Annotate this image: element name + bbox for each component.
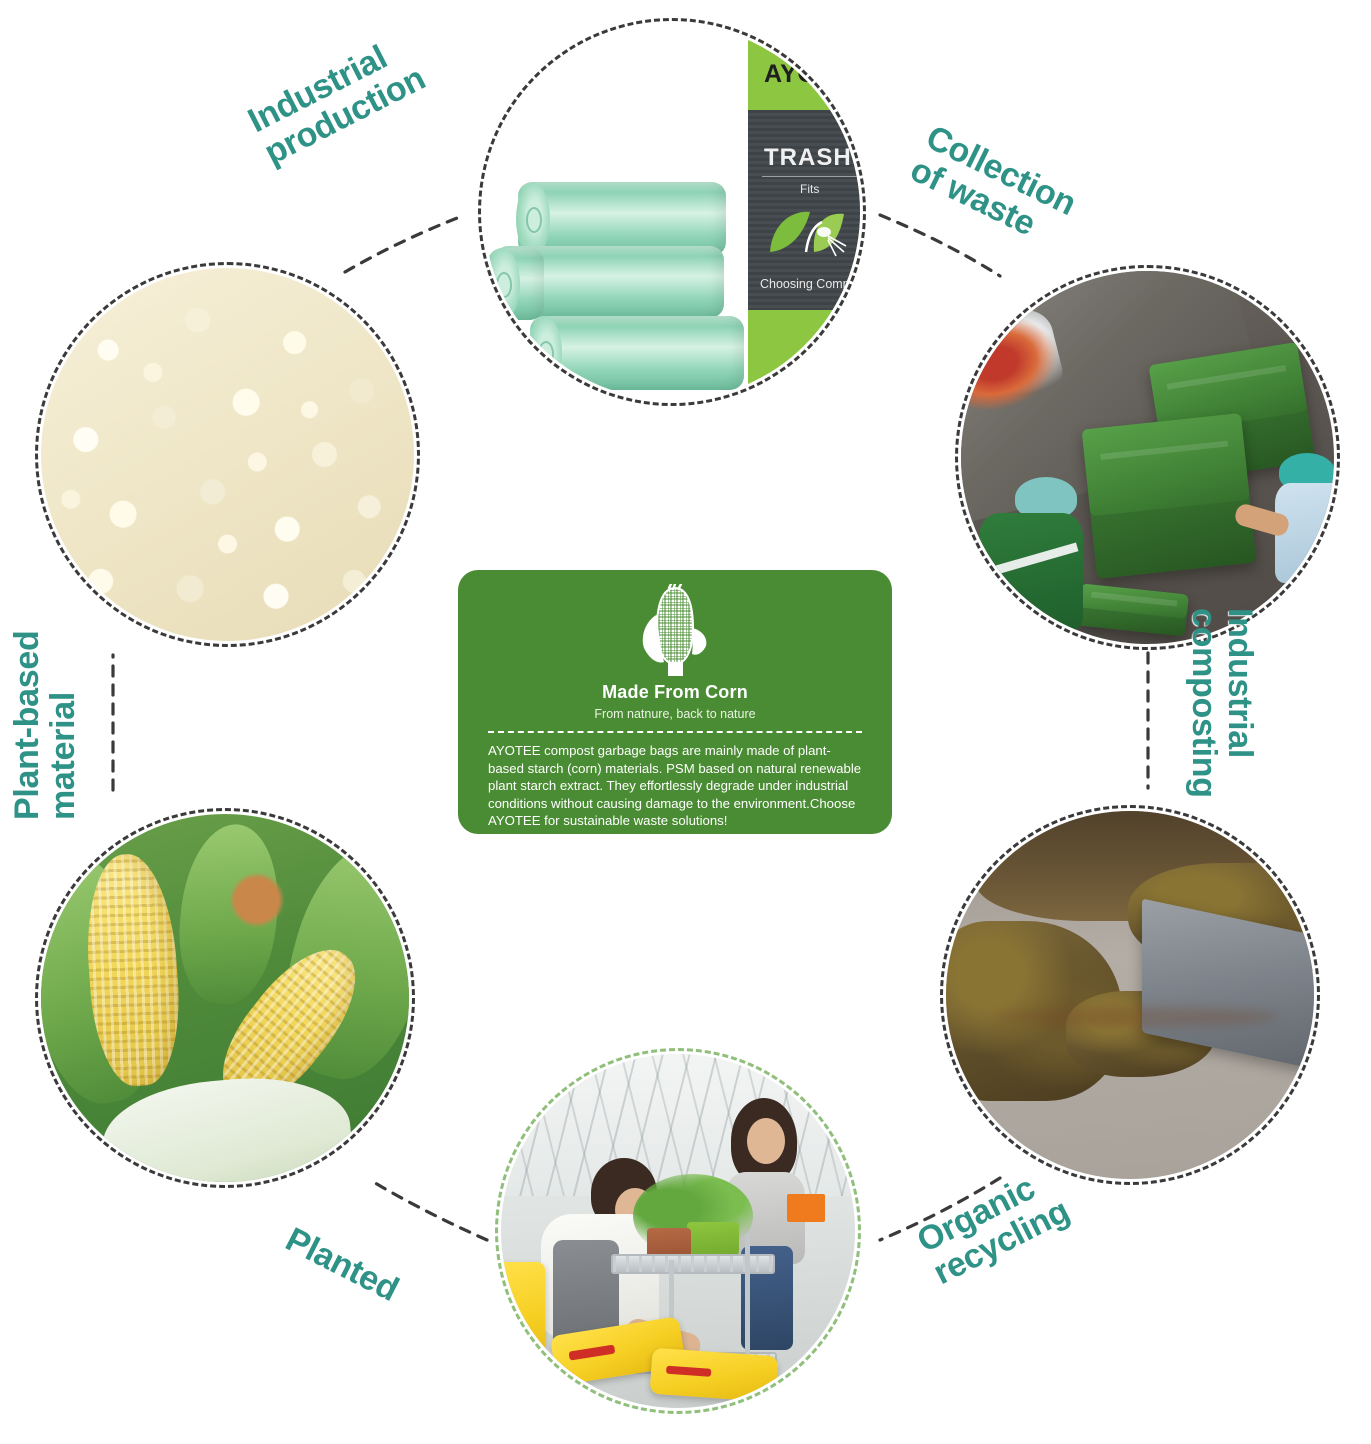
soil-bag-stack <box>501 1262 545 1368</box>
box-tagline-text: Choosing Compostab <box>760 277 860 291</box>
card-divider <box>488 731 862 733</box>
node-plant-based-material <box>35 262 420 647</box>
worker-left <box>979 477 1075 627</box>
bag-roll-lower-left <box>488 248 544 320</box>
box-brand-text: AYO <box>764 60 817 89</box>
orange-hanging-sign <box>787 1194 825 1222</box>
label-organic-recycling: Organic recycling <box>912 1161 1075 1291</box>
green-bin-lid-ground <box>1077 583 1189 636</box>
green-bin-front <box>1082 413 1257 579</box>
infographic-canvas: AYO TRASH Fits Choosing Compostab <box>0 0 1371 1444</box>
composting-photo <box>946 811 1314 1179</box>
product-box: AYO TRASH Fits Choosing Compostab <box>748 24 860 400</box>
label-planted: Planted <box>280 1222 404 1309</box>
trash-bags-photo: AYO TRASH Fits Choosing Compostab <box>484 24 860 400</box>
garden-center-photo <box>501 1054 855 1408</box>
corn-photo <box>41 814 409 1182</box>
node-planted <box>495 1048 861 1414</box>
leaf-logo-icon <box>762 202 854 266</box>
node-organic-recycling <box>35 808 415 1188</box>
label-collection-of-waste: Collection of waste <box>905 120 1081 255</box>
connector-garden-to-corn <box>370 1180 487 1240</box>
label-industrial-production: Industrial production <box>243 29 431 172</box>
corn-icon-wrap <box>488 584 862 680</box>
label-industrial-composting: Industrial composting <box>1186 608 1257 798</box>
bag-roll-top <box>518 182 726 256</box>
label-plant-based-material: Plant-based material <box>10 631 81 820</box>
waste-collection-photo <box>961 271 1334 644</box>
node-industrial-composting <box>940 805 1320 1185</box>
node-industrial-production: AYO TRASH Fits Choosing Compostab <box>478 18 866 406</box>
worker-right <box>1253 453 1334 583</box>
pellets-photo <box>41 268 414 641</box>
node-collection-of-waste <box>955 265 1340 650</box>
cart-upper-shelf <box>611 1254 775 1274</box>
soil-bag-rear <box>650 1348 779 1403</box>
made-from-corn-card: Made From Corn From natnure, back to nat… <box>458 570 892 834</box>
card-body-text: AYOTEE compost garbage bags are mainly m… <box>488 742 862 830</box>
bag-roll-bottom <box>530 316 744 390</box>
connector-pellets-to-bags <box>345 215 465 272</box>
card-title: Made From Corn <box>488 682 862 703</box>
box-product-text: TRASH <box>764 144 852 172</box>
corn-cob-icon <box>638 584 712 680</box>
card-subtitle: From natnure, back to nature <box>488 707 862 721</box>
box-fits-text: Fits <box>800 182 819 196</box>
connector-bags-to-bins <box>880 215 1000 276</box>
